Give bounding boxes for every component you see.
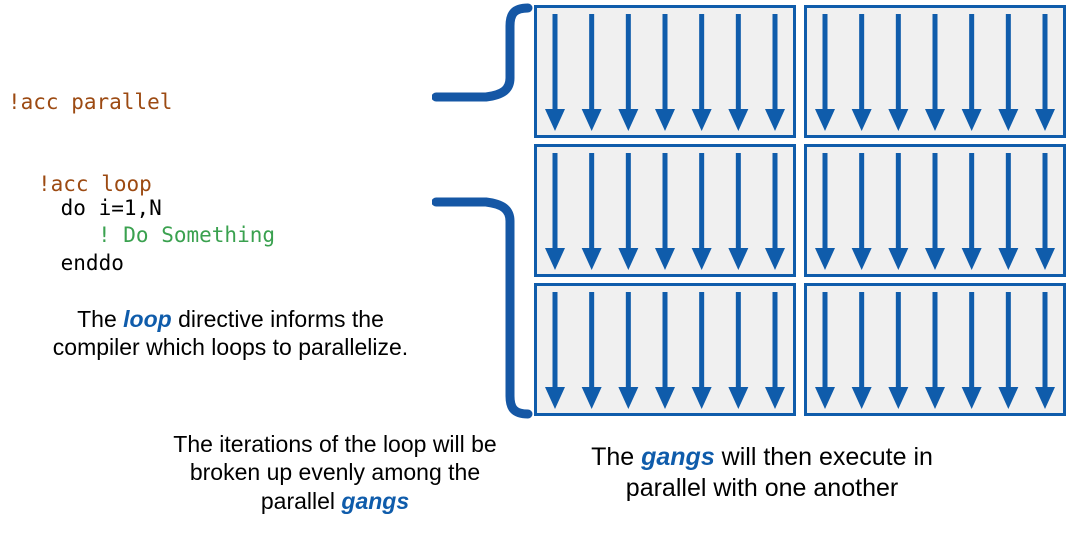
down-arrow-icon [582, 153, 602, 270]
down-arrow-icon [962, 153, 982, 270]
code-line-enddo: enddo [48, 253, 124, 274]
caption-gangs-execute: The gangs will then execute in parallel … [552, 442, 972, 504]
down-arrow-icon [998, 153, 1018, 270]
down-arrow-icon [1035, 292, 1055, 409]
arrow-group [807, 286, 1063, 413]
slide-canvas: !acc parallel !acc loop do i=1,N ! Do So… [0, 0, 1088, 533]
down-arrow-icon [888, 153, 908, 270]
gang-box-gang-4 [804, 144, 1066, 277]
caption-loop-part1: The [77, 306, 123, 332]
down-arrow-icon [925, 153, 945, 270]
keyword-gangs-left: gangs [341, 488, 409, 514]
down-arrow-icon [925, 14, 945, 131]
down-arrow-icon [545, 153, 565, 270]
down-arrow-icon [728, 14, 748, 131]
gang-box-gang-3 [534, 144, 796, 277]
down-arrow-icon [888, 292, 908, 409]
down-arrow-icon [582, 292, 602, 409]
code-line-acc-parallel: !acc parallel [8, 92, 172, 113]
keyword-loop: loop [123, 306, 172, 332]
down-arrow-icon [545, 292, 565, 409]
caption-iterations: The iterations of the loop will be broke… [150, 430, 520, 515]
down-arrow-icon [765, 14, 785, 131]
down-arrow-icon [618, 14, 638, 131]
down-arrow-icon [582, 14, 602, 131]
arrow-group [807, 147, 1063, 274]
down-arrow-icon [728, 153, 748, 270]
down-arrow-icon [888, 14, 908, 131]
down-arrow-icon [765, 292, 785, 409]
down-arrow-icon [815, 292, 835, 409]
gang-box-gang-2 [804, 5, 1066, 138]
caption-iterations-part1: The iterations of the loop will be broke… [173, 431, 496, 514]
down-arrow-icon [852, 153, 872, 270]
code-line-comment: ! Do Something [98, 225, 275, 246]
brace-lower-icon [436, 202, 528, 414]
caption-loop-directive: The loop directive informs the compiler … [48, 305, 413, 362]
gang-box-gang-5 [534, 283, 796, 416]
code-line-do: do i=1,N [48, 198, 162, 219]
down-arrow-icon [815, 153, 835, 270]
down-arrow-icon [655, 14, 675, 131]
down-arrow-icon [545, 14, 565, 131]
down-arrow-icon [1035, 153, 1055, 270]
down-arrow-icon [692, 14, 712, 131]
down-arrow-icon [692, 292, 712, 409]
down-arrow-icon [1035, 14, 1055, 131]
down-arrow-icon [852, 14, 872, 131]
down-arrow-icon [815, 14, 835, 131]
down-arrow-icon [852, 292, 872, 409]
down-arrow-icon [655, 153, 675, 270]
down-arrow-icon [655, 292, 675, 409]
down-arrow-icon [998, 292, 1018, 409]
arrow-group [537, 286, 793, 413]
gang-box-gang-6 [804, 283, 1066, 416]
arrow-group [537, 147, 793, 274]
down-arrow-icon [998, 14, 1018, 131]
down-arrow-icon [765, 153, 785, 270]
down-arrow-icon [962, 14, 982, 131]
down-arrow-icon [618, 153, 638, 270]
caption-execute-part1: The [591, 443, 641, 471]
brace-upper-icon [436, 8, 528, 97]
arrow-group [537, 8, 793, 135]
arrow-group [807, 8, 1063, 135]
down-arrow-icon [925, 292, 945, 409]
down-arrow-icon [728, 292, 748, 409]
gang-box-gang-1 [534, 5, 796, 138]
down-arrow-icon [618, 292, 638, 409]
down-arrow-icon [962, 292, 982, 409]
code-line-acc-loop: !acc loop [38, 174, 152, 195]
parallel-region-brace [432, 0, 542, 430]
keyword-gangs-right: gangs [641, 443, 715, 471]
down-arrow-icon [692, 153, 712, 270]
gang-grid [534, 5, 1066, 418]
